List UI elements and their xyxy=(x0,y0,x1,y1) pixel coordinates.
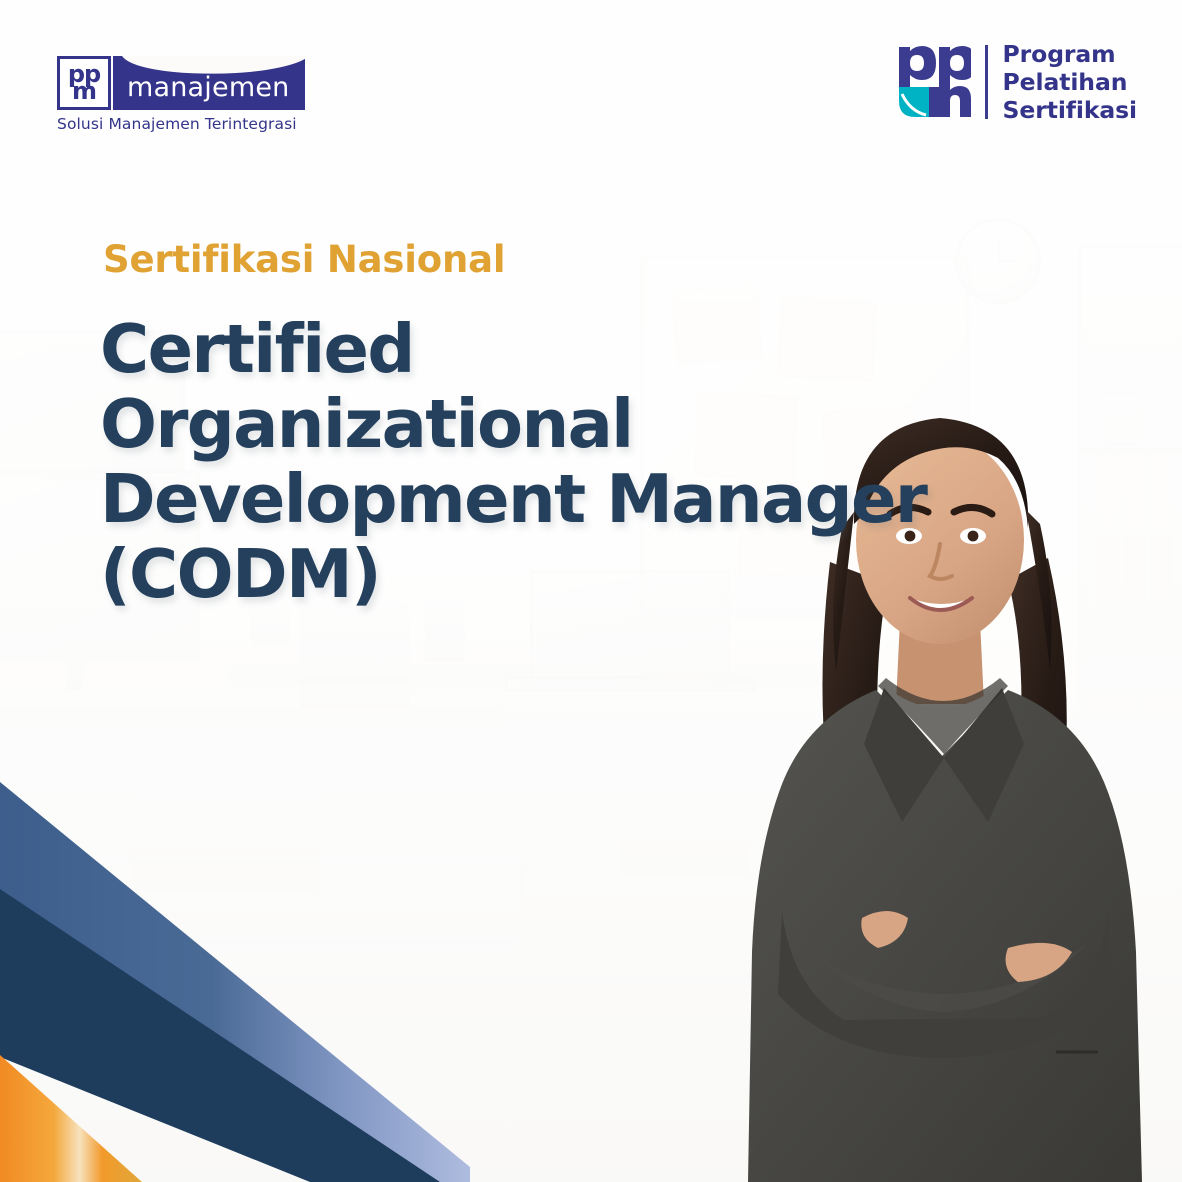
program-pelatihan-sertifikasi-logo[interactable]: Program Pelatihan Sertifikasi xyxy=(895,40,1137,125)
page-title: Certified Organizational Development Man… xyxy=(100,312,930,612)
pupil-right xyxy=(968,531,979,542)
pps-line-2: Pelatihan xyxy=(1003,68,1137,96)
letter-p-right xyxy=(939,46,971,89)
title-line-2: Development Manager xyxy=(100,462,930,537)
ppm-monogram-bottom: m xyxy=(72,82,96,101)
ppm-monogram-icon: pp m xyxy=(57,56,111,110)
promo-banner: pp m manajemen Solusi Manajemen Terinteg… xyxy=(0,0,1182,1182)
eyebrow-text: Sertifikasi Nasional xyxy=(103,238,505,281)
pps-text-block: Program Pelatihan Sertifikasi xyxy=(1003,40,1137,125)
letter-m-bowl xyxy=(939,86,971,117)
brand-tagline: Solusi Manajemen Terintegrasi xyxy=(57,115,297,133)
pps-line-1: Program xyxy=(1003,40,1137,68)
manajemen-wordmark: manajemen xyxy=(127,72,289,110)
leaf-icon xyxy=(899,87,929,117)
pps-monogram-icon xyxy=(895,41,971,123)
title-line-1: Certified Organizational xyxy=(100,312,930,462)
letter-p-left xyxy=(899,46,936,89)
logo-divider xyxy=(985,45,988,119)
letter-m-stem xyxy=(929,87,939,117)
title-line-3: (CODM) xyxy=(100,537,930,612)
blazer xyxy=(748,690,1142,1182)
pps-line-3: Sertifikasi xyxy=(1003,96,1137,124)
ppm-logo-row: pp m manajemen xyxy=(57,56,305,110)
ppm-manajemen-logo[interactable]: pp m manajemen Solusi Manajemen Terinteg… xyxy=(57,56,305,133)
manajemen-wordmark-bar: manajemen xyxy=(113,56,305,110)
